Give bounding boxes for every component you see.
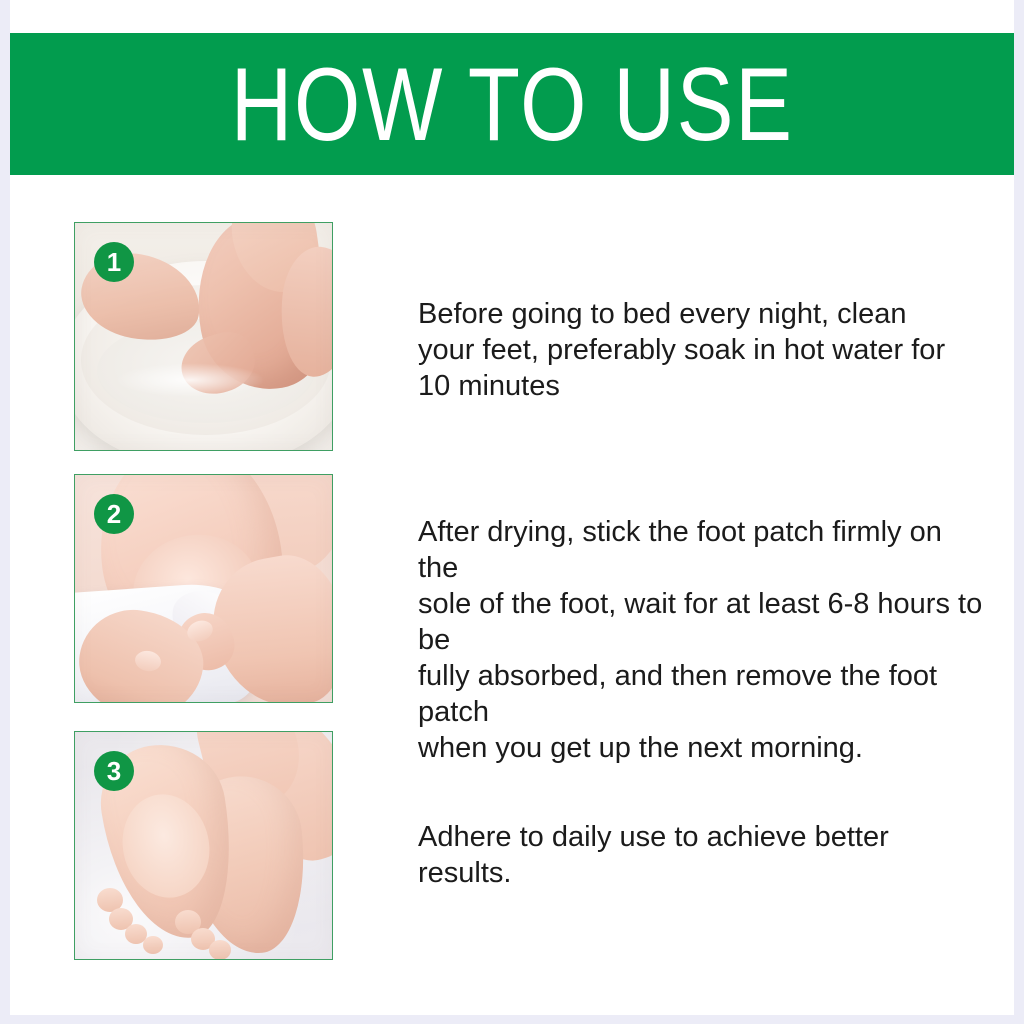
step-3-image-frame: 3 — [74, 731, 333, 960]
step-1-description: Before going to bed every night, clean y… — [418, 296, 988, 404]
page-title: HOW TO USE — [231, 53, 794, 157]
poster-content: HOW TO USE 1 Before goi — [10, 0, 1014, 1015]
step-item-1: 1 Before going to bed every night, clean… — [10, 222, 1014, 453]
step-2-description: After drying, stick the foot patch firml… — [418, 514, 988, 766]
step-item-2: 2 After drying, stick the foot patch fir… — [10, 474, 1014, 705]
step-item-3: 3 Adhere to daily use to achieve better … — [10, 731, 1014, 962]
step-3-description: Adhere to daily use to achieve better re… — [418, 819, 988, 891]
steps-list: 1 Before going to bed every night, clean… — [10, 175, 1014, 1015]
step-2-image-frame: 2 — [74, 474, 333, 703]
step-1-image-frame: 1 — [74, 222, 333, 451]
step-2-number-badge: 2 — [94, 494, 134, 534]
step-3-number-badge: 3 — [94, 751, 134, 791]
step-1-number-badge: 1 — [94, 242, 134, 282]
header-banner: HOW TO USE — [10, 33, 1014, 175]
